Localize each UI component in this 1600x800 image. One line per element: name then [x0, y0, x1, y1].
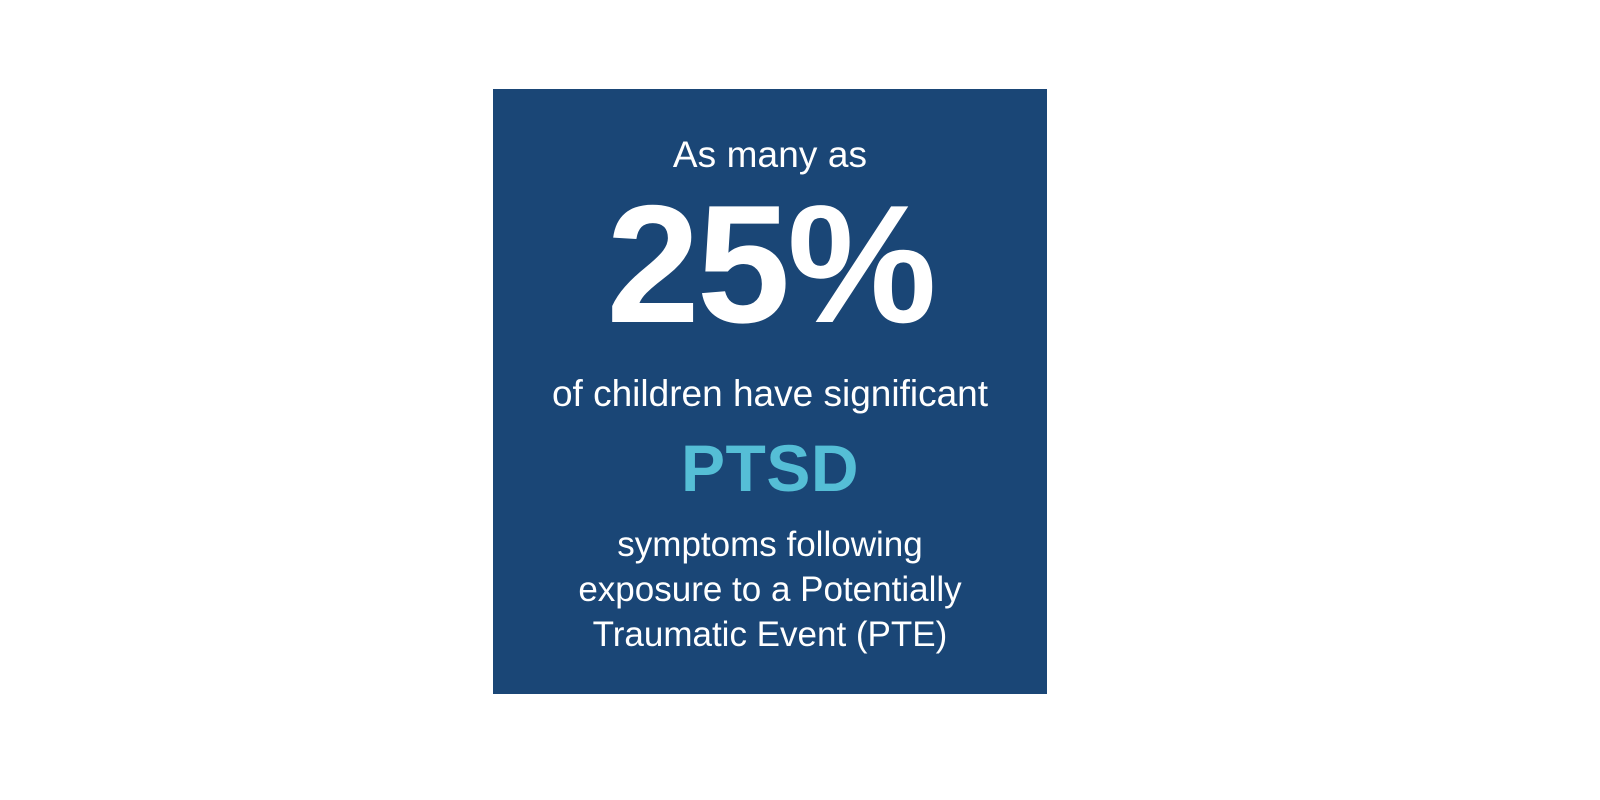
statistic-detail-block: symptoms following exposure to a Potenti…: [578, 522, 961, 657]
statistic-card: As many as 25% of children have signific…: [493, 89, 1047, 694]
page-canvas: As many as 25% of children have signific…: [0, 0, 1600, 800]
statistic-value: 25%: [493, 189, 1047, 339]
detail-line-2: exposure to a Potentially: [578, 567, 961, 612]
detail-line-3: Traumatic Event (PTE): [578, 612, 961, 657]
highlight-term-ptsd: PTSD: [493, 434, 1047, 502]
statistic-description-line: of children have significant: [493, 372, 1047, 416]
detail-line-1: symptoms following: [578, 522, 961, 567]
